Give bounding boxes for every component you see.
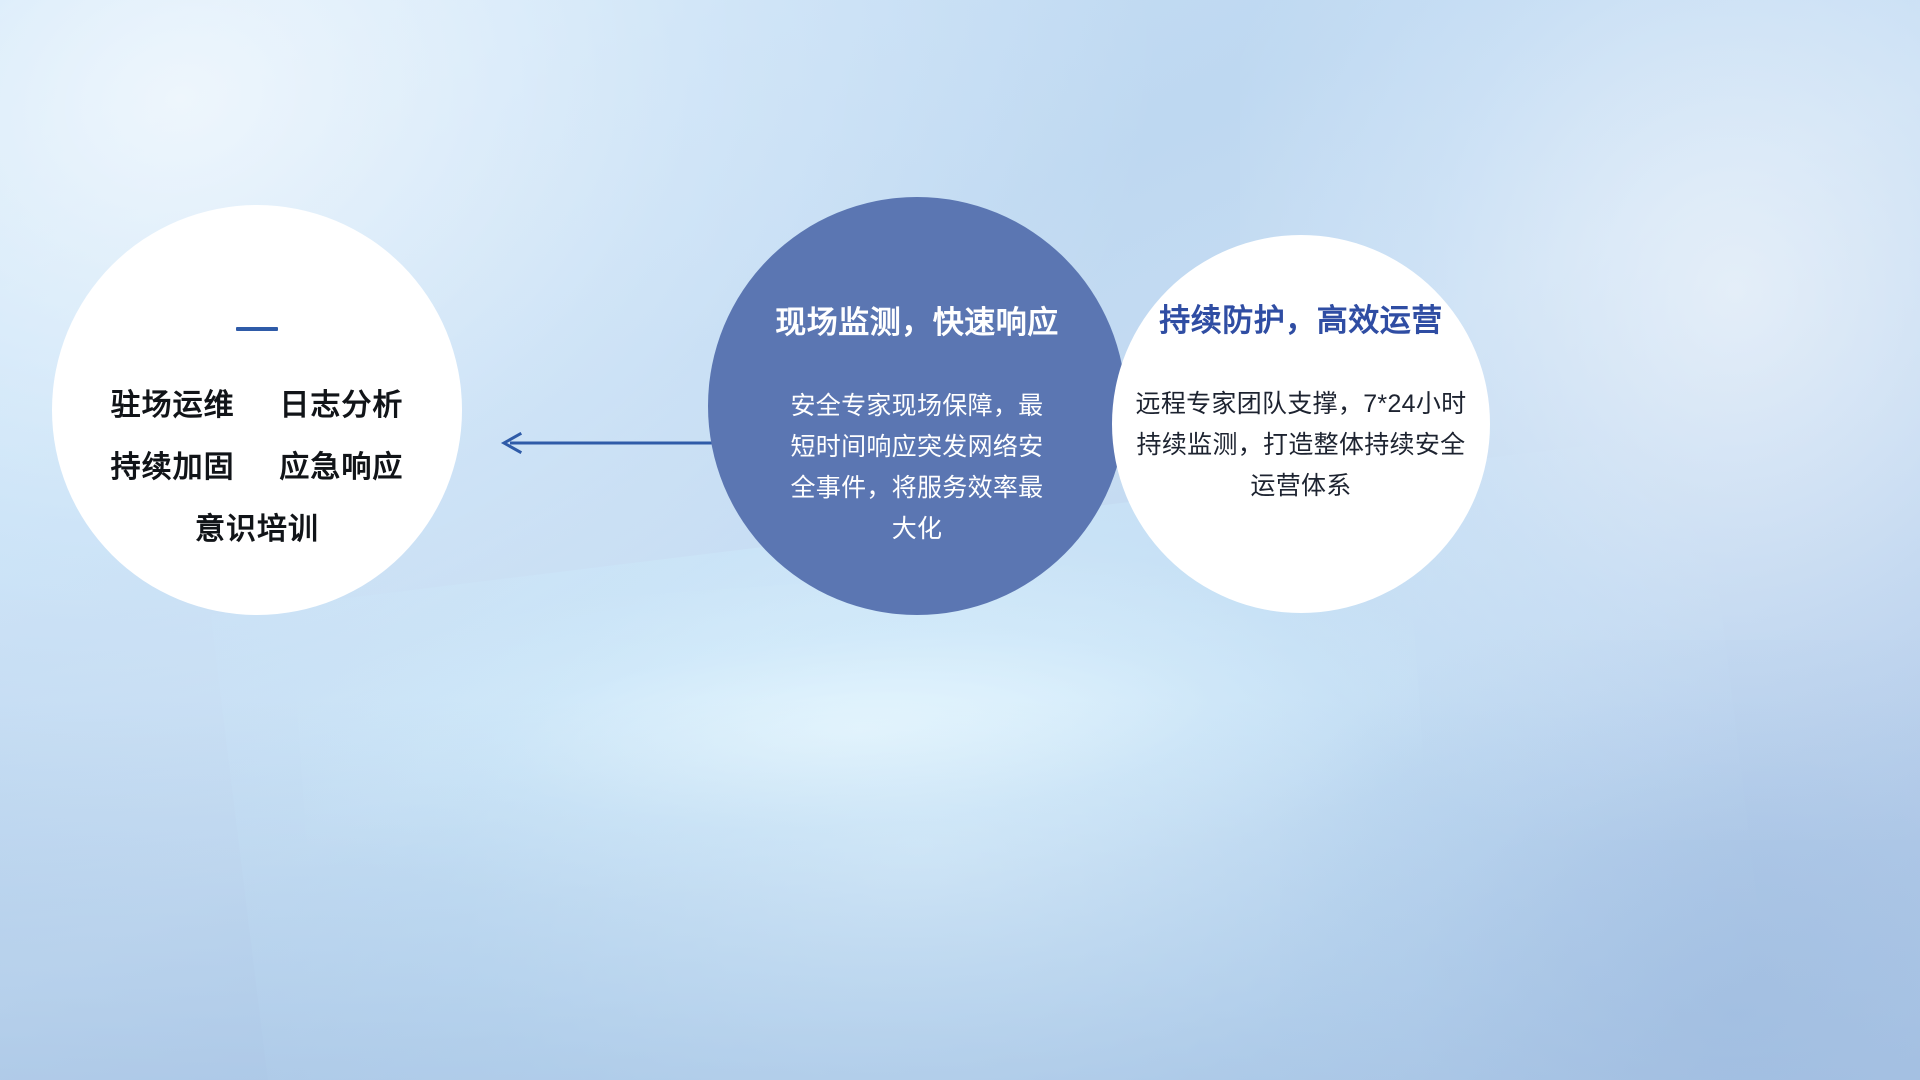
keyword-label: 持续加固: [111, 451, 235, 484]
keyword-label: 意识培训: [195, 513, 319, 546]
keyword-label: 驻场运维: [111, 389, 235, 422]
left-service-circle[interactable]: 驻场运维 日志分析 持续加固 应急响应 意识培训: [52, 205, 462, 615]
list-item: 持续加固 应急响应: [52, 437, 462, 499]
left-circle-keyword-list: 驻场运维 日志分析 持续加固 应急响应 意识培训: [52, 375, 462, 561]
background-corner-shade: [1280, 640, 1920, 1080]
right-circle-content: 持续防护，高效运营 远程专家团队支撑，7*24小时持续监测，打造整体持续安全运营…: [1112, 235, 1490, 613]
list-item: 意识培训: [52, 499, 462, 561]
list-item: 驻场运维 日志分析: [52, 375, 462, 437]
right-service-circle[interactable]: 持续防护，高效运营 远程专家团队支撑，7*24小时持续监测，打造整体持续安全运营…: [1112, 235, 1490, 613]
dash-divider-icon: [236, 327, 278, 331]
middle-service-circle[interactable]: [708, 197, 1126, 615]
keyword-label: 应急响应: [279, 451, 403, 484]
keyword-label: 日志分析: [279, 389, 403, 422]
left-circle-content: 驻场运维 日志分析 持续加固 应急响应 意识培训: [52, 205, 462, 615]
right-circle-body: 远程专家团队支撑，7*24小时持续监测，打造整体持续安全运营体系: [1129, 384, 1473, 507]
right-circle-title: 持续防护，高效运营: [1159, 295, 1443, 340]
slide-canvas: 驻场运维 日志分析 持续加固 应急响应 意识培训 持续防护，高效运营 远程专家团…: [0, 0, 1920, 1080]
